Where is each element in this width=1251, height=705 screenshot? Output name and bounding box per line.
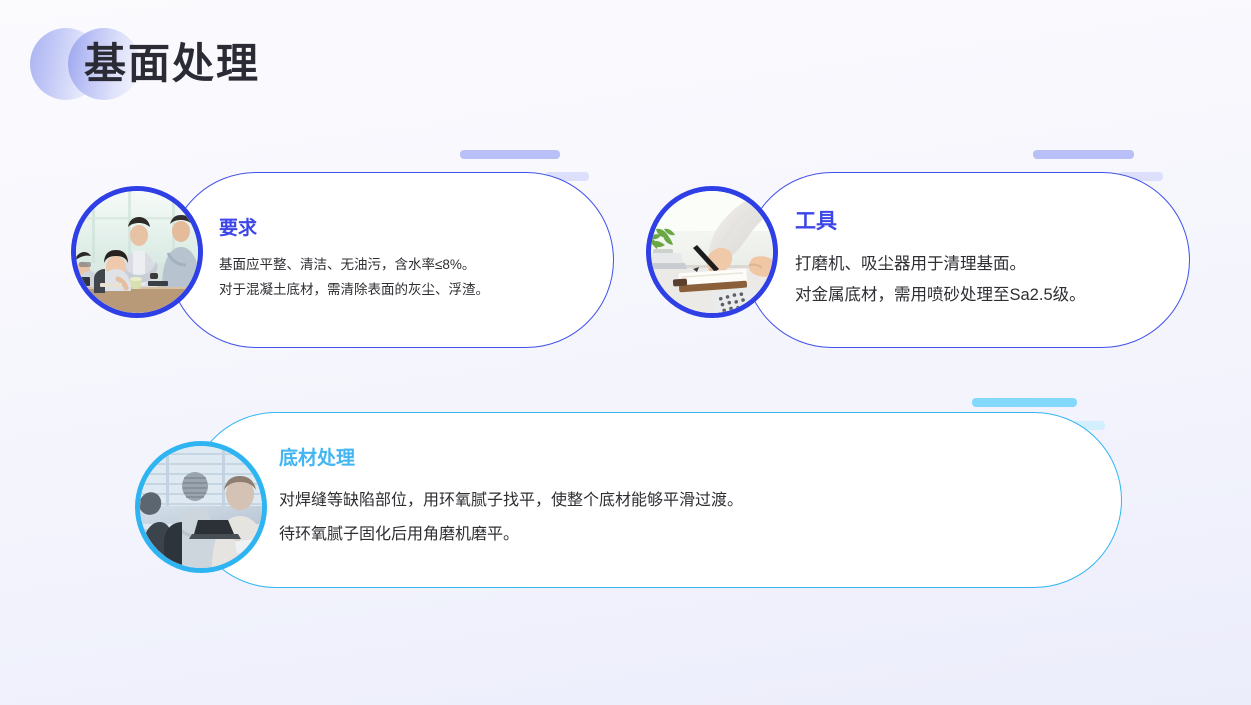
card-1-heading: 要求 [219, 218, 589, 241]
page-header: 基面处理 [0, 0, 1251, 130]
card-1-deco-bar-long [460, 150, 560, 159]
card-3-content: 底材处理 对焊缝等缺陷部位，用环氧腻子找平，使整个底材能够平滑过渡。 待环氧腻子… [279, 413, 1079, 587]
office-conference-discussion-photo [140, 446, 262, 568]
card-2-line-1: 打磨机、吸尘器用于清理基面。 [795, 249, 1195, 280]
card-3-line-1: 对焊缝等缺陷部位，用环氧腻子找平，使整个底材能够平滑过渡。 [279, 484, 1079, 518]
card-1-content: 要求 基面应平整、清洁、无油污，含水率≤8%。 对于混凝土底材，需清除表面的灰尘… [219, 173, 589, 347]
card-2-content: 工具 打磨机、吸尘器用于清理基面。 对金属底材，需用喷砂处理至Sa2.5级。 [795, 173, 1195, 347]
card-substrate-treatment[interactable]: 底材处理 对焊缝等缺陷部位，用环氧腻子找平，使整个底材能够平滑过渡。 待环氧腻子… [188, 412, 1122, 588]
card-2-photo-avatar [646, 186, 778, 318]
card-tools[interactable]: 工具 打磨机、吸尘器用于清理基面。 对金属底材，需用喷砂处理至Sa2.5级。 [744, 172, 1190, 348]
card-2-line-2: 对金属底材，需用喷砂处理至Sa2.5级。 [795, 280, 1195, 311]
card-3-deco-bar-long [972, 398, 1077, 407]
hand-writing-notebook-photo [651, 191, 773, 313]
card-1-line-1: 基面应平整、清洁、无油污，含水率≤8%。 [219, 252, 589, 277]
card-3-heading: 底材处理 [279, 448, 1079, 471]
card-2-heading: 工具 [795, 209, 1195, 234]
card-3-line-2: 待环氧腻子固化后用角磨机磨平。 [279, 518, 1079, 552]
card-1-line-2: 对于混凝土底材，需清除表面的灰尘、浮渣。 [219, 277, 589, 302]
card-2-deco-bar-long [1033, 150, 1134, 159]
office-team-meeting-photo [76, 191, 198, 313]
card-requirements[interactable]: 要求 基面应平整、清洁、无油污，含水率≤8%。 对于混凝土底材，需清除表面的灰尘… [168, 172, 614, 348]
card-3-photo-avatar [135, 441, 267, 573]
card-1-photo-avatar [71, 186, 203, 318]
page-title: 基面处理 [84, 36, 260, 92]
